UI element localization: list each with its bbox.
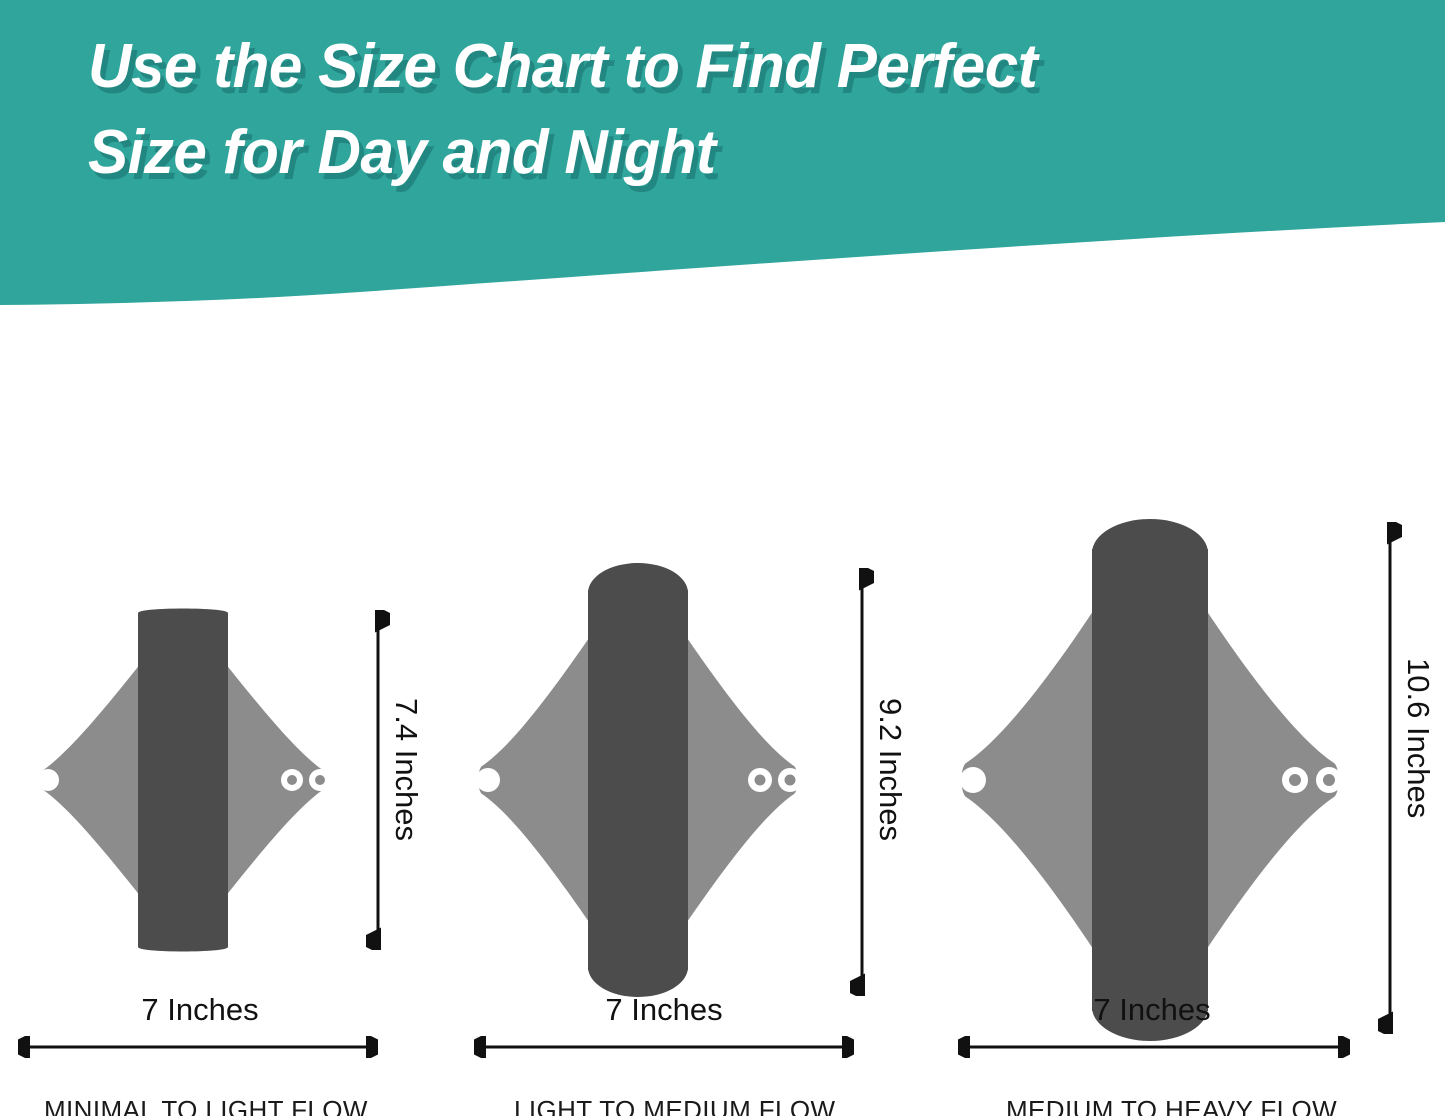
width-label-large: 7 Inches xyxy=(938,992,1366,1028)
flow-label-small: MINIMAL TO LIGHT FLOW xyxy=(44,1095,368,1116)
snap-hole-left-icon xyxy=(476,768,500,792)
pad-illustration-large xyxy=(950,515,1350,1045)
pad-core-body-medium xyxy=(588,590,688,970)
pad-core-top-medium xyxy=(588,563,688,623)
pad-core-top-large xyxy=(1092,519,1208,587)
pad-core-bottom-medium xyxy=(588,937,688,997)
header-banner: Use the Size Chart to Find Perfect Size … xyxy=(0,0,1445,310)
pad-shape-medium xyxy=(468,560,808,1000)
width-dimension-arrow-medium xyxy=(474,1036,854,1058)
height-dimension-arrow-small xyxy=(366,610,390,950)
height-dimension-arrow-large xyxy=(1378,522,1402,1034)
page-title: Use the Size Chart to Find Perfect Size … xyxy=(88,24,1349,195)
pad-core-body-small xyxy=(138,635,228,925)
flow-label-large: MEDIUM TO HEAVY FLOW xyxy=(1006,1095,1337,1116)
pad-illustration-medium xyxy=(468,560,808,1000)
pad-card-large: 10.6 Inches 7 Inches MEDIUM TO HEAVY FLO… xyxy=(938,310,1445,1116)
pad-shape-large xyxy=(950,515,1350,1045)
pad-core-body-large xyxy=(1092,549,1208,1011)
width-label-small: 7 Inches xyxy=(0,992,400,1028)
pad-core-top-small xyxy=(138,609,228,665)
width-dimension-arrow-large xyxy=(958,1036,1350,1058)
pad-card-small: 7.4 Inches 7 Inches MINIMAL TO LIGHT FLO… xyxy=(0,310,440,1116)
flow-label-medium: LIGHT TO MEDIUM FLOW xyxy=(514,1095,835,1116)
pad-card-medium: 9.2 Inches 7 Inches LIGHT TO MEDIUM FLOW xyxy=(458,310,908,1116)
pad-illustration-small xyxy=(28,605,338,955)
pad-size-comparison: 7.4 Inches 7 Inches MINIMAL TO LIGHT FLO… xyxy=(0,310,1445,1116)
width-dimension-arrow-small xyxy=(18,1036,378,1058)
height-label-medium: 9.2 Inches xyxy=(872,698,908,841)
size-chart-infographic: Use the Size Chart to Find Perfect Size … xyxy=(0,0,1445,1116)
height-dimension-arrow-medium xyxy=(850,568,874,996)
width-label-medium: 7 Inches xyxy=(458,992,870,1028)
pad-shape-small xyxy=(28,605,338,955)
pad-core-bottom-small xyxy=(138,895,228,951)
height-label-small: 7.4 Inches xyxy=(388,698,424,841)
snap-hole-left-icon xyxy=(960,767,986,793)
snap-hole-left-icon xyxy=(37,769,59,791)
height-label-large: 10.6 Inches xyxy=(1400,658,1436,818)
